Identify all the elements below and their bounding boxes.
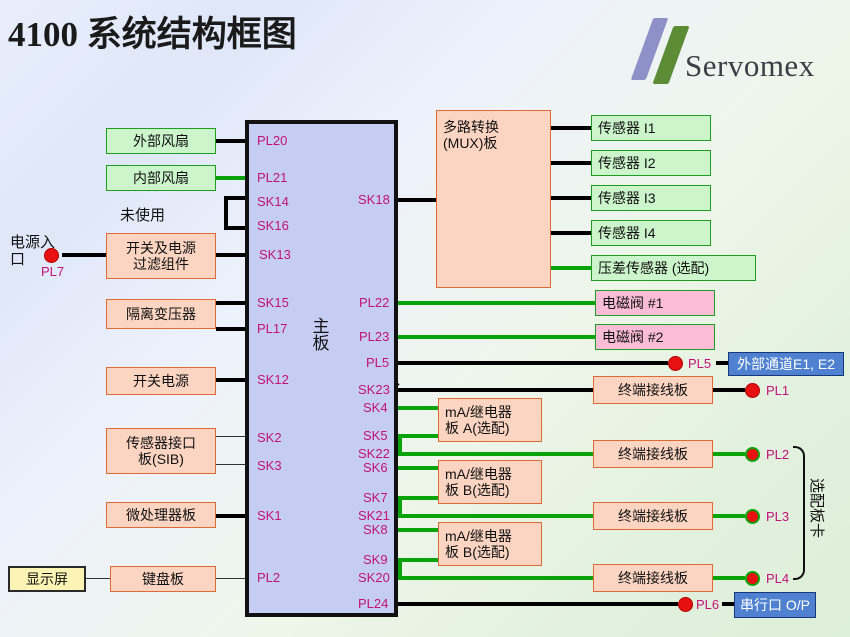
port-sk14: SK14 bbox=[257, 194, 289, 209]
port-pl2: PL2 bbox=[257, 570, 280, 585]
connector-pl6-dot[interactable] bbox=[678, 597, 693, 612]
box-power-filter-line1: 开关及电源 bbox=[126, 240, 196, 256]
box-relay-b1-line2: 板 B(选配) bbox=[445, 482, 510, 498]
connector-pl3-dot[interactable] bbox=[745, 509, 760, 524]
connector-pl7-label: PL7 bbox=[41, 264, 64, 279]
box-relay-board-a[interactable]: mA/继电器 板 A(选配) bbox=[438, 398, 542, 442]
port-pl5: PL5 bbox=[366, 355, 389, 370]
port-sk5: SK5 bbox=[363, 428, 388, 443]
connector-pl2-dot[interactable] bbox=[745, 447, 760, 462]
box-sensor-interface-board[interactable]: 传感器接口 板(SIB) bbox=[106, 428, 216, 474]
port-sk1: SK1 bbox=[257, 508, 282, 523]
box-sensor-i2[interactable]: 传感器 I2 bbox=[591, 150, 711, 176]
box-external-channel[interactable]: 外部通道E1, E2 bbox=[728, 352, 844, 376]
port-sk8: SK8 bbox=[363, 522, 388, 537]
box-external-fan-label: 外部风扇 bbox=[133, 133, 189, 149]
logo-wordmark: Servomex bbox=[685, 48, 815, 84]
wire-pl5-to-channel bbox=[716, 361, 728, 365]
box-sensor-i1-label: 传感器 I1 bbox=[598, 120, 656, 136]
box-serial-port[interactable]: 串行口 O/P bbox=[734, 592, 816, 618]
box-sensor-i3-label: 传感器 I3 bbox=[598, 190, 656, 206]
label-unused: 未使用 bbox=[120, 204, 165, 225]
box-display[interactable]: 显示屏 bbox=[8, 566, 86, 592]
wire-sk21-terminal-3 bbox=[398, 514, 593, 518]
port-sk23: SK23 bbox=[358, 382, 390, 397]
option-group-label: 选配板卡 bbox=[807, 478, 828, 538]
wire-unused-bracket-vertical bbox=[224, 196, 228, 230]
connector-pl3-label: PL3 bbox=[766, 509, 789, 524]
port-sk2: SK2 bbox=[257, 430, 282, 445]
wire-sk4-relay-a bbox=[398, 406, 438, 410]
box-sensor-i1[interactable]: 传感器 I1 bbox=[591, 115, 711, 141]
box-isolation-transformer[interactable]: 隔离变压器 bbox=[106, 299, 216, 329]
box-differential-pressure-sensor[interactable]: 压差传感器 (选配) bbox=[591, 255, 756, 281]
wire-mux-sensor-2 bbox=[551, 161, 593, 165]
box-mux-line2: (MUX)板 bbox=[443, 135, 497, 151]
wire-sk7-relay-b1 bbox=[398, 496, 438, 500]
box-terminal-block-1[interactable]: 终端接线板 bbox=[593, 376, 713, 404]
box-sensor-i4-label: 传感器 I4 bbox=[598, 225, 656, 241]
port-pl17: PL17 bbox=[257, 321, 287, 336]
box-relay-a-line1: mA/继电器 bbox=[445, 404, 512, 420]
box-relay-a-line2: 板 A(选配) bbox=[445, 420, 510, 436]
connector-pl5-label: PL5 bbox=[688, 356, 711, 371]
wire-sk20-terminal-4 bbox=[398, 576, 593, 580]
wire-internal-fan bbox=[216, 176, 246, 180]
box-sib-line1: 传感器接口 bbox=[126, 435, 196, 451]
box-display-label: 显示屏 bbox=[26, 571, 68, 587]
wire-mux-sensor-1 bbox=[551, 126, 593, 130]
port-sk6: SK6 bbox=[363, 460, 388, 475]
wire-unused-bracket-top bbox=[224, 196, 246, 200]
box-terminal-block-1-label: 终端接线板 bbox=[618, 382, 688, 398]
box-switching-psu[interactable]: 开关电源 bbox=[106, 367, 216, 395]
port-pl24: PL24 bbox=[358, 596, 388, 611]
wire-terminal-4-pl4 bbox=[713, 576, 745, 580]
box-valve-1-label: 电磁阀 #1 bbox=[602, 295, 663, 311]
box-keypad-board-label: 键盘板 bbox=[142, 571, 184, 587]
wire-sk5-relay-a bbox=[398, 434, 438, 438]
box-external-fan[interactable]: 外部风扇 bbox=[106, 128, 216, 154]
port-pl22: PL22 bbox=[359, 295, 389, 310]
wire-transformer-sk15 bbox=[216, 301, 246, 305]
box-diff-sensor-label: 压差传感器 (选配) bbox=[598, 260, 709, 276]
box-relay-b2-line2: 板 B(选配) bbox=[445, 544, 510, 560]
port-sk18: SK18 bbox=[358, 192, 390, 207]
port-sk20: SK20 bbox=[358, 570, 390, 585]
port-sk12: SK12 bbox=[257, 372, 289, 387]
box-solenoid-valve-2[interactable]: 电磁阀 #2 bbox=[595, 324, 715, 350]
box-relay-b1-line1: mA/继电器 bbox=[445, 466, 512, 482]
wire-switch-psu bbox=[216, 378, 246, 382]
option-group-brace-icon bbox=[793, 446, 805, 580]
wire-mux-sensor-3 bbox=[551, 196, 593, 200]
box-terminal-block-4-label: 终端接线板 bbox=[618, 570, 688, 586]
wire-keypad-board bbox=[216, 578, 246, 579]
box-terminal-block-4[interactable]: 终端接线板 bbox=[593, 564, 713, 592]
box-sensor-i2-label: 传感器 I2 bbox=[598, 155, 656, 171]
box-internal-fan-label: 内部风扇 bbox=[133, 170, 189, 186]
diagram-canvas: 4100 系统结构框图 Servomex bbox=[0, 0, 850, 637]
wire-external-fan bbox=[216, 139, 246, 143]
wire-sk9-relay-b2 bbox=[398, 558, 438, 562]
wire-unused-bracket-bottom bbox=[224, 226, 246, 230]
wire-terminal-1 bbox=[398, 388, 593, 392]
port-sk4: SK4 bbox=[363, 400, 388, 415]
wire-valve-1 bbox=[398, 301, 595, 305]
box-microprocessor-board-label: 微处理器板 bbox=[126, 507, 196, 523]
page-title: 4100 系统结构框图 bbox=[8, 6, 297, 57]
wire-microprocessor bbox=[216, 514, 246, 518]
box-solenoid-valve-1[interactable]: 电磁阀 #1 bbox=[595, 290, 715, 316]
box-sensor-i3[interactable]: 传感器 I3 bbox=[591, 185, 711, 211]
box-terminal-block-2[interactable]: 终端接线板 bbox=[593, 440, 713, 468]
wire-sib-sk3 bbox=[216, 464, 246, 465]
box-switching-psu-label: 开关电源 bbox=[133, 373, 189, 389]
connector-pl2-label: PL2 bbox=[766, 447, 789, 462]
box-valve-2-label: 电磁阀 #2 bbox=[602, 329, 663, 345]
port-pl21: PL21 bbox=[257, 170, 287, 185]
wire-display bbox=[86, 578, 110, 579]
port-sk21: SK21 bbox=[358, 508, 390, 523]
port-sk3: SK3 bbox=[257, 458, 282, 473]
wire-mux-diff-sensor bbox=[551, 266, 593, 270]
box-keypad-board[interactable]: 键盘板 bbox=[110, 566, 216, 592]
wire-board-to-mux bbox=[398, 198, 436, 202]
box-external-channel-label: 外部通道E1, E2 bbox=[737, 356, 835, 372]
wire-mux-sensor-4 bbox=[551, 231, 593, 235]
box-relay-board-b2[interactable]: mA/继电器 板 B(选配) bbox=[438, 522, 542, 566]
main-board-label: 主板 bbox=[310, 318, 332, 352]
port-sk7: SK7 bbox=[363, 490, 388, 505]
wire-power-inlet bbox=[62, 253, 110, 257]
wire-external-channel bbox=[398, 361, 668, 365]
box-relay-b2-line1: mA/继电器 bbox=[445, 528, 512, 544]
box-terminal-block-3[interactable]: 终端接线板 bbox=[593, 502, 713, 530]
box-mux-line1: 多路转换 bbox=[443, 119, 499, 135]
port-sk22: SK22 bbox=[358, 446, 390, 461]
connector-pl5-dot[interactable] bbox=[668, 356, 683, 371]
port-pl23: PL23 bbox=[359, 329, 389, 344]
wire-terminal-2-pl2 bbox=[713, 452, 745, 456]
connector-pl6-label: PL6 bbox=[696, 597, 719, 612]
wire-valve-2 bbox=[398, 335, 595, 339]
wire-sk8-relay-b2 bbox=[398, 528, 438, 532]
connector-pl4-label: PL4 bbox=[766, 571, 789, 586]
port-sk16: SK16 bbox=[257, 218, 289, 233]
box-microprocessor-board[interactable]: 微处理器板 bbox=[106, 502, 216, 528]
box-mux-board[interactable]: 多路转换 (MUX)板 bbox=[436, 110, 551, 288]
connector-pl7-dot[interactable] bbox=[44, 248, 59, 263]
wire-serial-port bbox=[398, 602, 678, 606]
box-relay-board-b1[interactable]: mA/继电器 板 B(选配) bbox=[438, 460, 542, 504]
wire-power-filter bbox=[216, 253, 246, 257]
port-sk9: SK9 bbox=[363, 552, 388, 567]
servomex-logo: Servomex bbox=[630, 16, 845, 96]
wire-transformer-pl17 bbox=[216, 327, 246, 331]
port-sk13: SK13 bbox=[259, 247, 291, 262]
connector-pl4-dot[interactable] bbox=[745, 571, 760, 586]
wire-sib-sk2 bbox=[216, 436, 246, 437]
wire-sk22-terminal-2 bbox=[398, 452, 593, 456]
box-power-filter[interactable]: 开关及电源 过滤组件 bbox=[106, 233, 216, 279]
wire-pl6-to-serial bbox=[722, 602, 734, 606]
box-internal-fan[interactable]: 内部风扇 bbox=[106, 165, 216, 191]
box-terminal-block-2-label: 终端接线板 bbox=[618, 446, 688, 462]
wire-terminal-1-pl1 bbox=[713, 388, 745, 392]
connector-pl1-dot[interactable] bbox=[745, 383, 760, 398]
connector-pl1-label: PL1 bbox=[766, 383, 789, 398]
power-inlet-line1: 电源入 bbox=[10, 234, 66, 251]
wire-sk6-relay-b1 bbox=[398, 466, 438, 470]
box-serial-port-label: 串行口 O/P bbox=[740, 597, 810, 613]
box-power-filter-line2: 过滤组件 bbox=[133, 256, 189, 272]
wire-terminal-3-pl3 bbox=[713, 514, 745, 518]
port-pl20: PL20 bbox=[257, 133, 287, 148]
box-terminal-block-3-label: 终端接线板 bbox=[618, 508, 688, 524]
box-sib-line2: 板(SIB) bbox=[138, 451, 184, 467]
box-sensor-i4[interactable]: 传感器 I4 bbox=[591, 220, 711, 246]
box-isolation-transformer-label: 隔离变压器 bbox=[126, 306, 196, 322]
port-sk15: SK15 bbox=[257, 295, 289, 310]
